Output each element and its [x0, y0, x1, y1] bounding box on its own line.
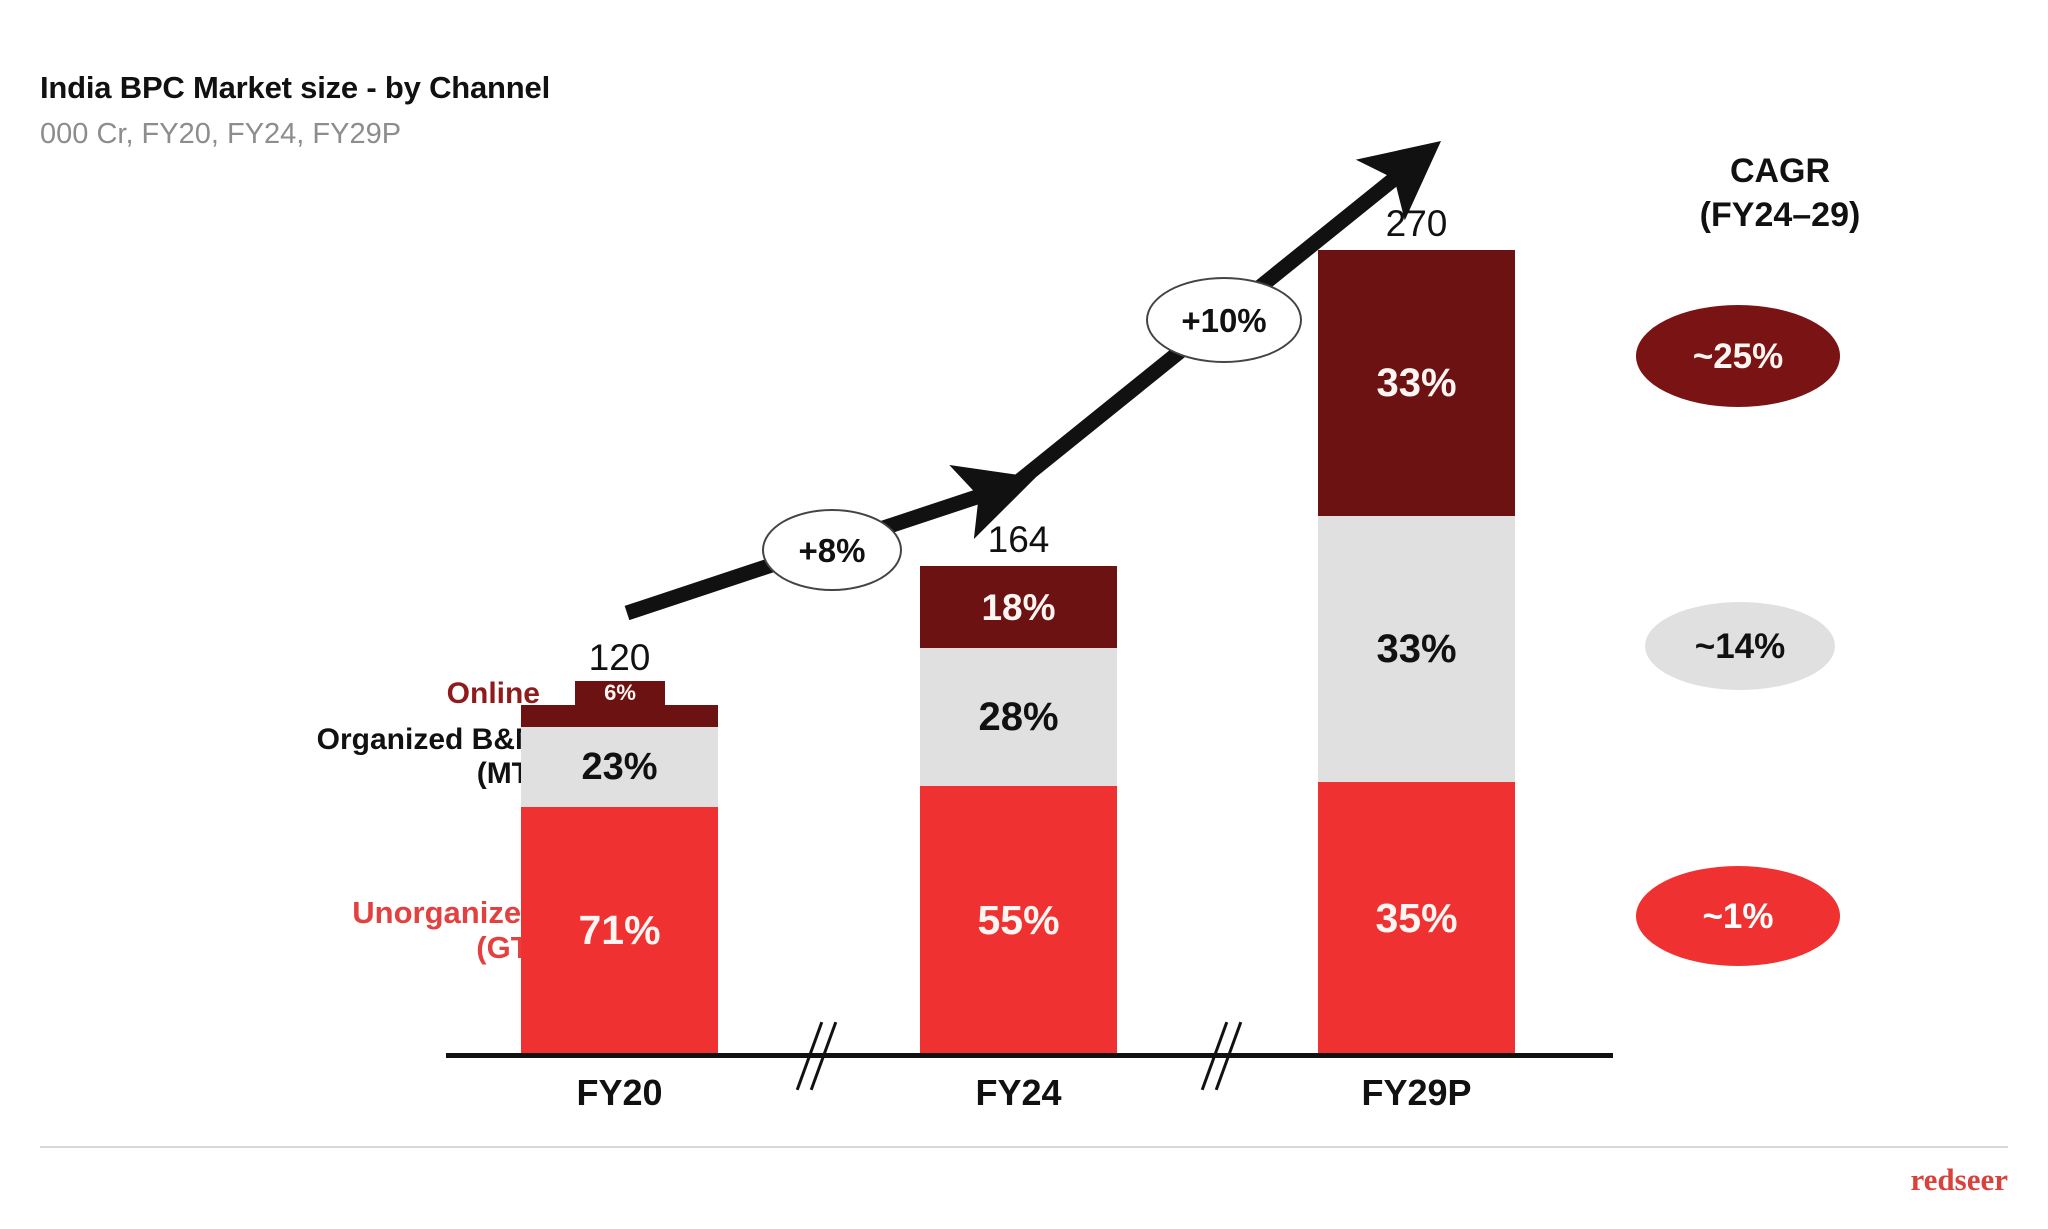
cagr-pill-online-label: ~25% [1693, 339, 1784, 374]
legend-organized-label-line2: (MT) [200, 757, 540, 791]
legend-unorganized-label-line1: Unorganized [200, 895, 540, 930]
cagr-pill-organized-label: ~14% [1695, 629, 1786, 664]
cagr-heading-line1: CAGR [1620, 150, 1940, 194]
bar-fy29p-segment-online[interactable]: 33% [1318, 250, 1515, 516]
legend-organized: Organized B&M (MT) [200, 723, 540, 791]
bar-fy20[interactable]: 23% 71% [521, 705, 718, 1054]
bar-fy20-online-tab-label: 6% [604, 682, 636, 704]
bar-fy29p-unorganized-label: 35% [1375, 898, 1457, 939]
bar-fy20-online-tab: 6% [575, 681, 665, 705]
footer-divider [40, 1146, 2008, 1148]
bar-fy29p-organized-label: 33% [1376, 629, 1456, 669]
bar-fy29p-segment-organized[interactable]: 33% [1318, 516, 1515, 782]
bar-total-fy20: 120 [521, 637, 718, 679]
axis-break-mark-1 [800, 1020, 834, 1092]
bar-fy20-segment-online[interactable] [521, 705, 718, 727]
cagr-pill-unorganized[interactable]: ~1% [1636, 866, 1840, 966]
x-axis-label-fy29p: FY29P [1318, 1072, 1515, 1114]
bar-fy20-segment-unorganized[interactable]: 71% [521, 807, 718, 1054]
cagr-pill-online[interactable]: ~25% [1636, 305, 1840, 407]
redseer-logo: redseer [1910, 1162, 2008, 1198]
slide-canvas: India BPC Market size - by Channel 000 C… [0, 0, 2048, 1229]
legend-online-label: Online [200, 677, 540, 711]
cagr-heading: CAGR (FY24–29) [1620, 150, 1940, 237]
growth-callout-fy20-fy24[interactable]: +8% [762, 509, 902, 591]
bar-fy24-unorganized-label: 55% [977, 900, 1059, 941]
legend-unorganized-label-line2: (GT) [200, 930, 540, 965]
bar-fy29p-segment-unorganized[interactable]: 35% [1318, 782, 1515, 1054]
growth-callout-fy24-fy29-label: +10% [1181, 304, 1266, 337]
bar-fy20-segment-organized[interactable]: 23% [521, 727, 718, 807]
legend-organized-label-line1: Organized B&M [200, 723, 540, 757]
x-axis-label-fy24: FY24 [920, 1072, 1117, 1114]
cagr-heading-line2: (FY24–29) [1620, 194, 1940, 238]
axis-break-mark-2 [1205, 1020, 1239, 1092]
legend-unorganized: Unorganized (GT) [200, 895, 540, 966]
bar-fy20-organized-label: 23% [581, 748, 657, 786]
cagr-pill-organized[interactable]: ~14% [1645, 602, 1835, 690]
cagr-pill-unorganized-label: ~1% [1702, 899, 1773, 934]
bar-fy24-organized-label: 28% [978, 697, 1058, 737]
bar-fy24-segment-organized[interactable]: 28% [920, 648, 1117, 786]
x-axis-label-fy20: FY20 [521, 1072, 718, 1114]
bar-fy24[interactable]: 18% 28% 55% [920, 566, 1117, 1054]
bar-fy24-segment-unorganized[interactable]: 55% [920, 786, 1117, 1054]
growth-callout-fy20-fy24-label: +8% [799, 534, 866, 567]
growth-callout-fy24-fy29[interactable]: +10% [1146, 277, 1302, 363]
bar-fy24-online-label: 18% [981, 589, 1055, 626]
x-axis-line [446, 1053, 1613, 1058]
bar-fy24-segment-online[interactable]: 18% [920, 566, 1117, 648]
bar-total-fy24: 164 [920, 519, 1117, 561]
bar-fy29p-online-label: 33% [1376, 363, 1456, 403]
bar-total-fy29p: 270 [1318, 203, 1515, 245]
bar-fy20-unorganized-label: 71% [578, 910, 660, 951]
bar-fy29p[interactable]: 33% 33% 35% [1318, 250, 1515, 1054]
legend-online: Online [200, 677, 540, 711]
